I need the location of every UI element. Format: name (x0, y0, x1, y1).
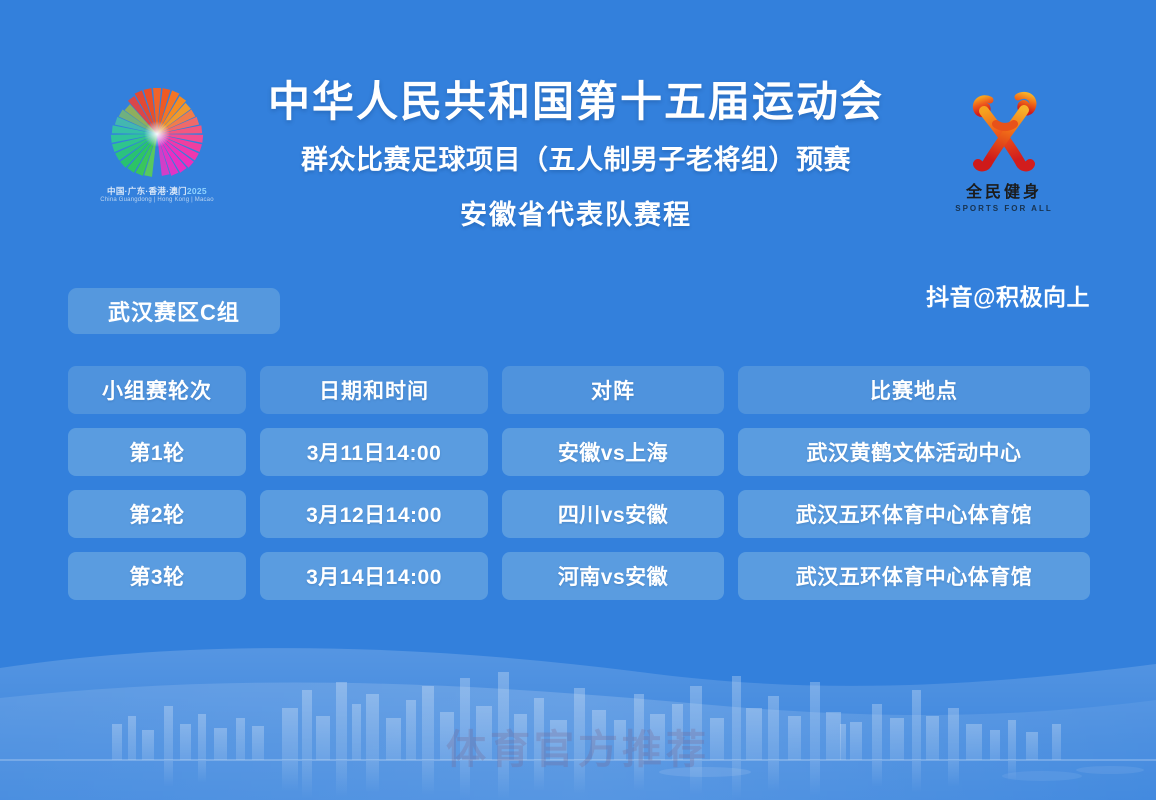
cell-matchup: 河南vs安徽 (502, 552, 724, 600)
table-row: 第2轮 3月12日14:00 四川vs安徽 武汉五环体育中心体育馆 (68, 490, 1090, 538)
cell-venue: 武汉五环体育中心体育馆 (738, 490, 1090, 538)
cell-matchup: 四川vs安徽 (502, 490, 724, 538)
poster-header: 中国·广东·香港·澳门2025 China Guangdong | Hong K… (0, 78, 1156, 273)
account-handle-watermark: 抖音@积极向上 (926, 278, 1090, 312)
cell-matchup: 安徽vs上海 (502, 428, 724, 476)
subtitle-event: 群众比赛足球项目（五人制男子老将组）预赛 (196, 138, 956, 177)
cell-datetime: 3月11日14:00 (260, 428, 488, 476)
cell-round: 第1轮 (68, 428, 246, 476)
group-badge: 武汉赛区C组 (68, 288, 280, 334)
table-row: 第1轮 3月11日14:00 安徽vs上海 武汉黄鹤文体活动中心 (68, 428, 1090, 476)
column-header-datetime: 日期和时间 (260, 366, 488, 414)
sports-for-all-caption-en: SPORTS FOR ALL (942, 204, 1066, 213)
cell-datetime: 3月14日14:00 (260, 552, 488, 600)
title-block: 中华人民共和国第十五届运动会 群众比赛足球项目（五人制男子老将组）预赛 安徽省代… (196, 78, 956, 232)
cell-round: 第2轮 (68, 490, 246, 538)
table-header-row: 小组赛轮次 日期和时间 对阵 比赛地点 (68, 366, 1090, 414)
schedule-table: 小组赛轮次 日期和时间 对阵 比赛地点 第1轮 3月11日14:00 安徽vs上… (68, 366, 1090, 600)
column-header-venue: 比赛地点 (738, 366, 1090, 414)
table-row: 第3轮 3月14日14:00 河南vs安徽 武汉五环体育中心体育馆 (68, 552, 1090, 600)
sports-for-all-emblem: 全民健身 SPORTS FOR ALL (942, 84, 1066, 212)
cell-datetime: 3月12日14:00 (260, 490, 488, 538)
subtitle-team: 安徽省代表队赛程 (196, 193, 956, 232)
poster-root: 体育官方推荐 (0, 0, 1156, 800)
cell-round: 第3轮 (68, 552, 246, 600)
skyline-scenery (0, 620, 1156, 800)
cell-venue: 武汉五环体育中心体育馆 (738, 552, 1090, 600)
page-title: 中华人民共和国第十五届运动会 (196, 78, 956, 125)
column-header-matchup: 对阵 (502, 366, 724, 414)
column-header-round: 小组赛轮次 (68, 366, 246, 414)
cell-venue: 武汉黄鹤文体活动中心 (738, 428, 1090, 476)
sports-for-all-caption-cn: 全民健身 (942, 178, 1066, 202)
